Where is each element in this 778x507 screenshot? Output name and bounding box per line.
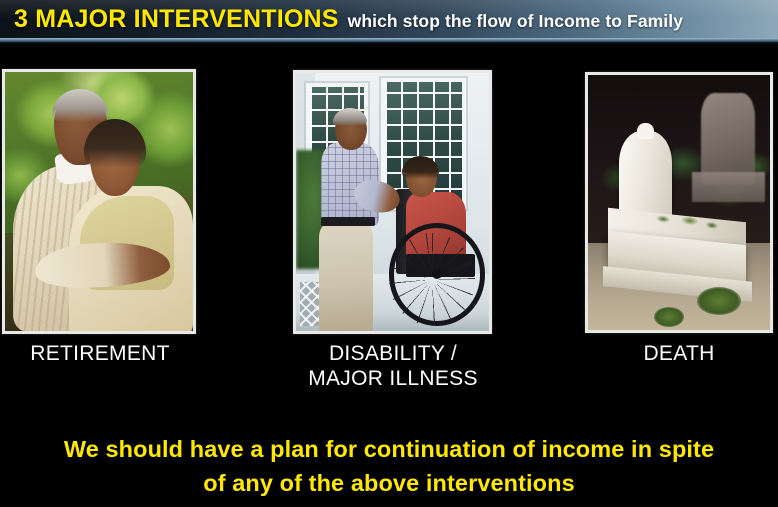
header-banner: 3 MAJOR INTERVENTIONSwhich stop the flow… [0, 0, 778, 38]
caption-disability-line2: MAJOR ILLNESS [293, 366, 493, 391]
caption-retirement: RETIREMENT [2, 341, 198, 366]
footer-message-line1: We should have a plan for continuation o… [30, 432, 748, 466]
caption-death: DEATH [585, 341, 773, 366]
slide-root: 3 MAJOR INTERVENTIONSwhich stop the flow… [0, 0, 778, 507]
photo-frame-death [585, 72, 773, 333]
ground-weed-right [697, 287, 741, 315]
header-underline-shadow [0, 42, 778, 45]
page-subtitle: which stop the flow of Income to Family [348, 11, 683, 31]
photo-disability [296, 73, 489, 331]
background-monument [701, 93, 756, 185]
footer-message: We should have a plan for continuation o… [30, 432, 748, 500]
grave-headstone-finial [637, 123, 653, 138]
background-monument-base [692, 172, 765, 203]
caption-row: RETIREMENT DISABILITY / MAJOR ILLNESS DE… [0, 339, 778, 401]
photo-row [0, 69, 778, 335]
caption-disability-line1: DISABILITY / [293, 341, 493, 366]
header-title-group: 3 MAJOR INTERVENTIONSwhich stop the flow… [14, 3, 683, 38]
caption-disability: DISABILITY / MAJOR ILLNESS [293, 341, 493, 391]
photo-death [588, 75, 770, 330]
photo-frame-retirement [2, 69, 196, 334]
footer-message-line2: of any of the above interventions [30, 466, 748, 500]
photo-frame-disability [293, 70, 492, 334]
standing-man-trousers [319, 225, 373, 331]
photo-retirement [5, 72, 193, 331]
standing-man-belt [321, 217, 375, 226]
page-title: 3 MAJOR INTERVENTIONS [14, 5, 339, 33]
wheelchair-spokes [389, 233, 476, 326]
